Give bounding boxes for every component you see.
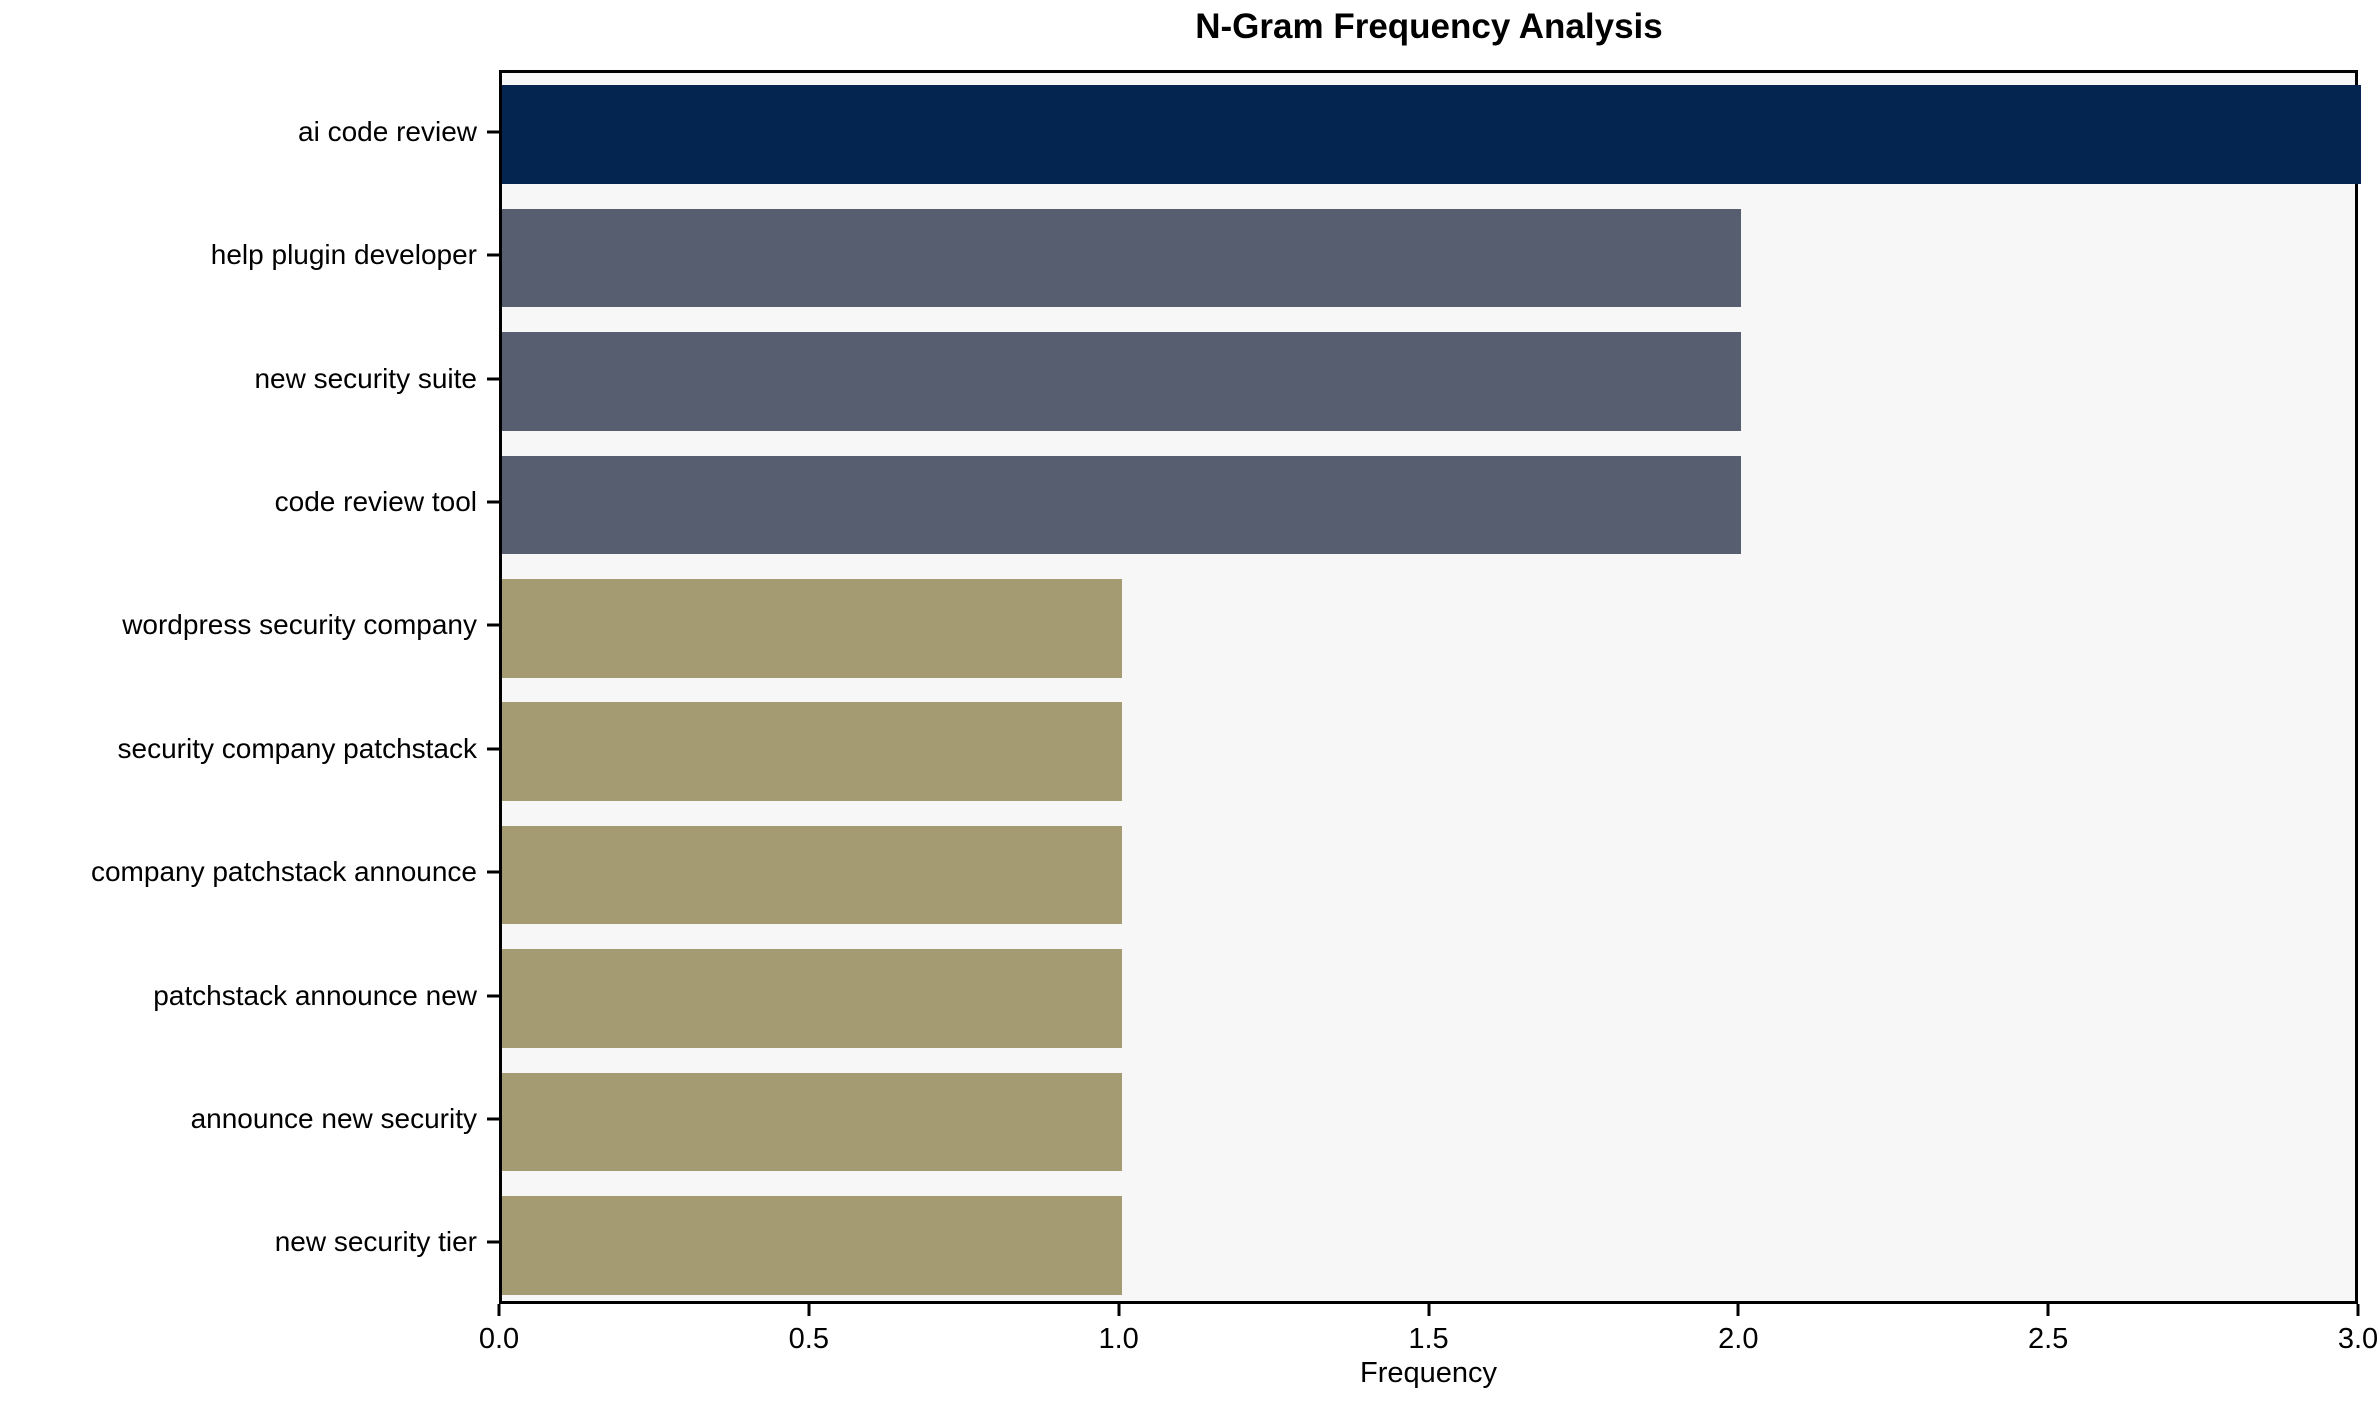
y-tick-label: patchstack announce new [153,980,477,1012]
bar [502,1073,1122,1172]
y-tick-label: new security suite [254,363,477,395]
y-tick-mark [487,500,499,503]
x-tick-mark [1427,1304,1430,1316]
y-tick-label: ai code review [298,116,477,148]
y-tick-mark [487,130,499,133]
y-tick-label: security company patchstack [118,733,478,765]
y-tick-label: company patchstack announce [91,856,477,888]
x-tick-mark [807,1304,810,1316]
x-tick-label: 2.5 [2028,1322,2068,1356]
x-tick-label: 3.0 [2338,1322,2378,1356]
x-tick-mark [498,1304,501,1316]
x-tick-mark [1117,1304,1120,1316]
plot-area [499,70,2358,1304]
x-axis-label: Frequency [499,1356,2358,1390]
y-tick-mark [487,1241,499,1244]
x-tick-label: 2.0 [1718,1322,1758,1356]
x-tick-mark [1737,1304,1740,1316]
y-tick-label: code review tool [275,486,477,518]
bars-layer [502,73,2355,1301]
bar [502,579,1122,678]
bar [502,949,1122,1048]
y-axis-ticks: ai code reviewhelp plugin developernew s… [0,70,499,1304]
y-tick-label: help plugin developer [211,239,477,271]
x-tick-label: 1.0 [1098,1322,1138,1356]
bar [502,332,1741,431]
y-tick-mark [487,377,499,380]
y-tick-mark [487,871,499,874]
chart-title: N-Gram Frequency Analysis [499,6,2359,48]
y-tick-mark [487,994,499,997]
bar [502,1196,1122,1295]
y-tick-mark [487,254,499,257]
chart-figure: N-Gram Frequency Analysis ai code review… [0,0,2379,1414]
y-tick-mark [487,624,499,627]
x-tick-label: 0.5 [789,1322,829,1356]
bar [502,826,1122,925]
y-tick-mark [487,747,499,750]
x-tick-label: 1.5 [1408,1322,1448,1356]
y-tick-label: wordpress security company [122,609,477,641]
x-tick-mark [2047,1304,2050,1316]
bar [502,456,1741,555]
y-tick-mark [487,1117,499,1120]
x-tick-label: 0.0 [479,1322,519,1356]
bar [502,702,1122,801]
y-tick-label: announce new security [191,1103,477,1135]
bar [502,85,2361,184]
x-tick-mark [2357,1304,2360,1316]
bar [502,209,1741,308]
y-tick-label: new security tier [275,1226,477,1258]
